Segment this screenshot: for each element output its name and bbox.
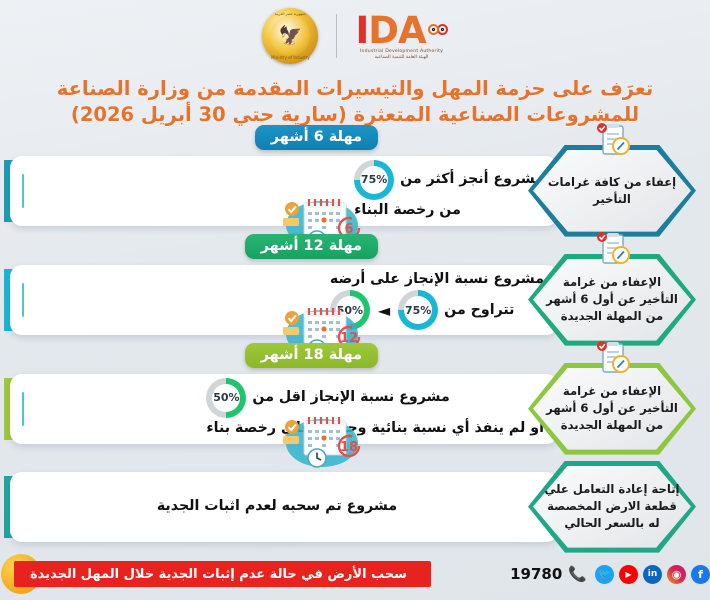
grace-period-badge: مهلة 12 أشهر (245, 234, 378, 259)
condition-text-2: من رخصة البناء (354, 200, 461, 221)
benefit-row: إتاحة إعادة التعامل علي قطعة الارض المخص… (10, 466, 696, 548)
benefit-diamond: إتاحة إعادة التعامل علي قطعة الارض المخص… (528, 461, 696, 553)
condition-text: مشروع نسبة الإنجاز على أرضه (330, 269, 544, 290)
benefit-diamond: الإعفاء من غرامة التأخير عن أول 6 أشهر م… (528, 363, 696, 455)
ministry-bottom-text: Ministry of Industry (262, 55, 318, 60)
linkedin-icon[interactable]: in (643, 565, 662, 584)
condition-text: مشروع نسبة الإنجاز اقل من (252, 387, 449, 408)
ida-letters: IDA (355, 12, 425, 49)
grace-period-badge: مهلة 18 أشهر (245, 343, 378, 368)
condition-text-2: أو لم ينفذ أي نسبة بنائية وحاصل علي رخصة… (206, 418, 544, 439)
benefit-diamond: الإعفاء من غرامة التأخير عن أول 6 أشهر م… (528, 254, 696, 346)
card-separator (22, 392, 24, 426)
progress-donut: 50% (206, 378, 246, 418)
header: IDA Industrial Development Authority اله… (0, 0, 710, 72)
checklist-icon (589, 232, 635, 272)
condition-text: مشروع تم سحبه لعدم اثبات الجدية (157, 498, 397, 514)
benefit-row: الإعفاء من غرامة التأخير عن أول 6 أشهر م… (10, 357, 696, 461)
checklist-icon (589, 341, 635, 381)
grace-period-badge: مهلة 6 أشهر (255, 125, 378, 150)
facebook-icon[interactable]: f (691, 565, 710, 584)
youtube-icon[interactable]: ▶ (619, 565, 638, 584)
social-links: f◉in▶🐦📞19780 (510, 565, 710, 584)
ministry-top-text: جمهورية مصر العربية (262, 12, 318, 16)
phone-icon: 📞 (568, 565, 587, 583)
donut-label: 50% (213, 391, 239, 404)
instagram-icon[interactable]: ◉ (667, 565, 686, 584)
title-line-1: تعرَف على حزمة المهل والتيسيرات المقدمة … (57, 77, 653, 100)
condition-card: مشروع تم سحبه لعدم اثبات الجدية (10, 472, 558, 542)
page-title: تعرَف على حزمة المهل والتيسيرات المقدمة … (0, 72, 710, 129)
phone-number: 19780 (510, 565, 562, 583)
ida-ar-name: الهيئة العامة للتنمية الصناعية (375, 56, 429, 61)
card-separator (22, 174, 24, 208)
ministry-logo: جمهورية مصر العربية 🦅 Ministry of Indust… (262, 8, 318, 64)
progress-donut: 75% (398, 290, 438, 330)
condition-text: مشروع أنجز أكثر من (400, 169, 544, 190)
warning-banner: سحب الأرض في حالة عدم إثبات الجدية خلال … (14, 561, 431, 587)
gears-icon (428, 24, 448, 35)
donut-label: 75% (361, 173, 387, 186)
benefit-text: إتاحة إعادة التعامل علي قطعة الارض المخص… (528, 461, 696, 553)
benefit-row: إعفاء من كافة غرامات التأخيرمشروع أنجز أ… (10, 139, 696, 243)
calendar-icon: 18 (274, 411, 366, 469)
card-separator (22, 283, 24, 317)
condition-card-wrapper: مشروع تم سحبه لعدم اثبات الجدية (10, 472, 558, 542)
donut-label: 75% (405, 304, 431, 317)
logo-divider (336, 14, 337, 58)
condition-text-2: تتراوح من (444, 300, 514, 321)
benefit-row: الإعفاء من غرامة التأخير عن أول 6 أشهر م… (10, 248, 696, 352)
svg-text:18: 18 (340, 440, 358, 455)
footer: f◉in▶🐦📞19780 سحب الأرض في حالة عدم إثبات… (0, 554, 710, 600)
rows-container: إعفاء من كافة غرامات التأخيرمشروع أنجز أ… (0, 129, 710, 548)
checklist-icon (589, 123, 635, 163)
ida-logo: IDA Industrial Development Authority اله… (355, 12, 447, 60)
arrow-left-icon: ◄ (378, 301, 390, 320)
benefit-diamond: إعفاء من كافة غرامات التأخير (528, 145, 696, 237)
eagle-emblem-icon: 🦅 (279, 27, 303, 46)
ida-en-name: Industrial Development Authority (360, 50, 443, 55)
twitter-icon[interactable]: 🐦 (595, 565, 614, 584)
